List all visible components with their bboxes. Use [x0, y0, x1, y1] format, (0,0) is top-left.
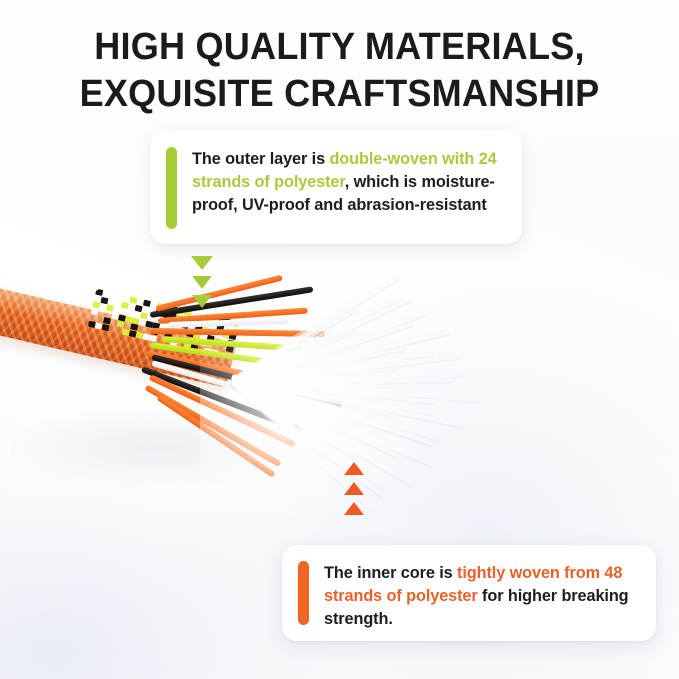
callout-inner-core-text: The inner core is tightly woven from 48 … — [324, 561, 638, 631]
rope-inner-core-fibers — [232, 270, 532, 560]
inner-lead-text: The inner core is — [324, 564, 457, 582]
rope-checker-cell — [116, 321, 124, 328]
rope-checker-cell — [109, 292, 117, 299]
callout-outer-layer: The outer layer is double-woven with 24 … — [150, 130, 522, 244]
rope-checker-cell — [91, 308, 99, 315]
product-photo — [0, 262, 600, 572]
callout-inner-core: The inner core is tightly woven from 48 … — [282, 545, 656, 641]
product-infographic: HIGH QUALITY MATERIALS, EXQUISITE CRAFTS… — [0, 0, 679, 679]
callout-outer-layer-text: The outer layer is double-woven with 24 … — [192, 147, 504, 217]
rope-checker-cell — [121, 301, 129, 308]
rope-checker-cell — [101, 324, 109, 331]
green-arrow-group — [191, 256, 213, 308]
triangle-down-icon — [192, 295, 212, 308]
rope-checker-cell — [149, 335, 157, 342]
triangle-up-icon — [344, 462, 364, 475]
triangle-down-icon — [191, 256, 213, 270]
headline: HIGH QUALITY MATERIALS, EXQUISITE CRAFTS… — [17, 24, 662, 117]
outer-lead-text: The outer layer is — [192, 150, 329, 168]
accent-bar-green — [166, 147, 177, 229]
rope-checker-cell — [100, 297, 108, 304]
triangle-up-icon — [344, 482, 364, 495]
rope-checker-cell — [129, 296, 137, 303]
triangle-down-icon — [192, 276, 212, 289]
accent-bar-orange — [298, 561, 309, 625]
rope-checker-cell — [135, 304, 143, 311]
orange-arrow-group — [344, 462, 364, 515]
triangle-up-icon — [344, 502, 364, 515]
